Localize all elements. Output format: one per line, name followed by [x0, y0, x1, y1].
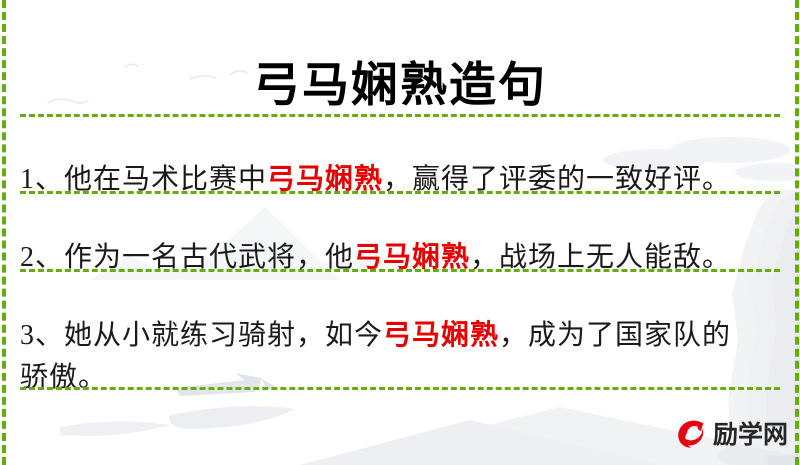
- worksheet-page: 弓马娴熟造句 1、他在马术比赛中弓马娴熟，赢得了评委的一致好评。 2、作为一名古…: [0, 0, 800, 465]
- divider-above-sentence-1: [20, 114, 780, 117]
- frame-border-right: [795, 0, 799, 465]
- site-logo[interactable]: 励学网: [673, 415, 788, 455]
- sentence-3-text-before: 她从小就练习骑射，如今: [64, 320, 383, 351]
- divider-between-sentence-2-3: [20, 269, 780, 272]
- sentence-item-2: 2、作为一名古代武将，他弓马娴熟，战场上无人能敌。: [20, 237, 760, 279]
- sentence-3-index: 3、: [20, 320, 64, 351]
- divider-between-sentence-1-2: [20, 191, 780, 194]
- sentence-3-idiom: 弓马娴熟: [383, 320, 499, 351]
- frame-border-left: [2, 0, 6, 465]
- site-logo-text: 励学网: [713, 421, 788, 449]
- sentence-item-1: 1、他在马术比赛中弓马娴熟，赢得了评委的一致好评。: [20, 159, 760, 201]
- divider-below-sentence-3: [20, 387, 780, 390]
- page-title: 弓马娴熟造句: [0, 55, 800, 117]
- swirl-flame-icon: [673, 417, 709, 453]
